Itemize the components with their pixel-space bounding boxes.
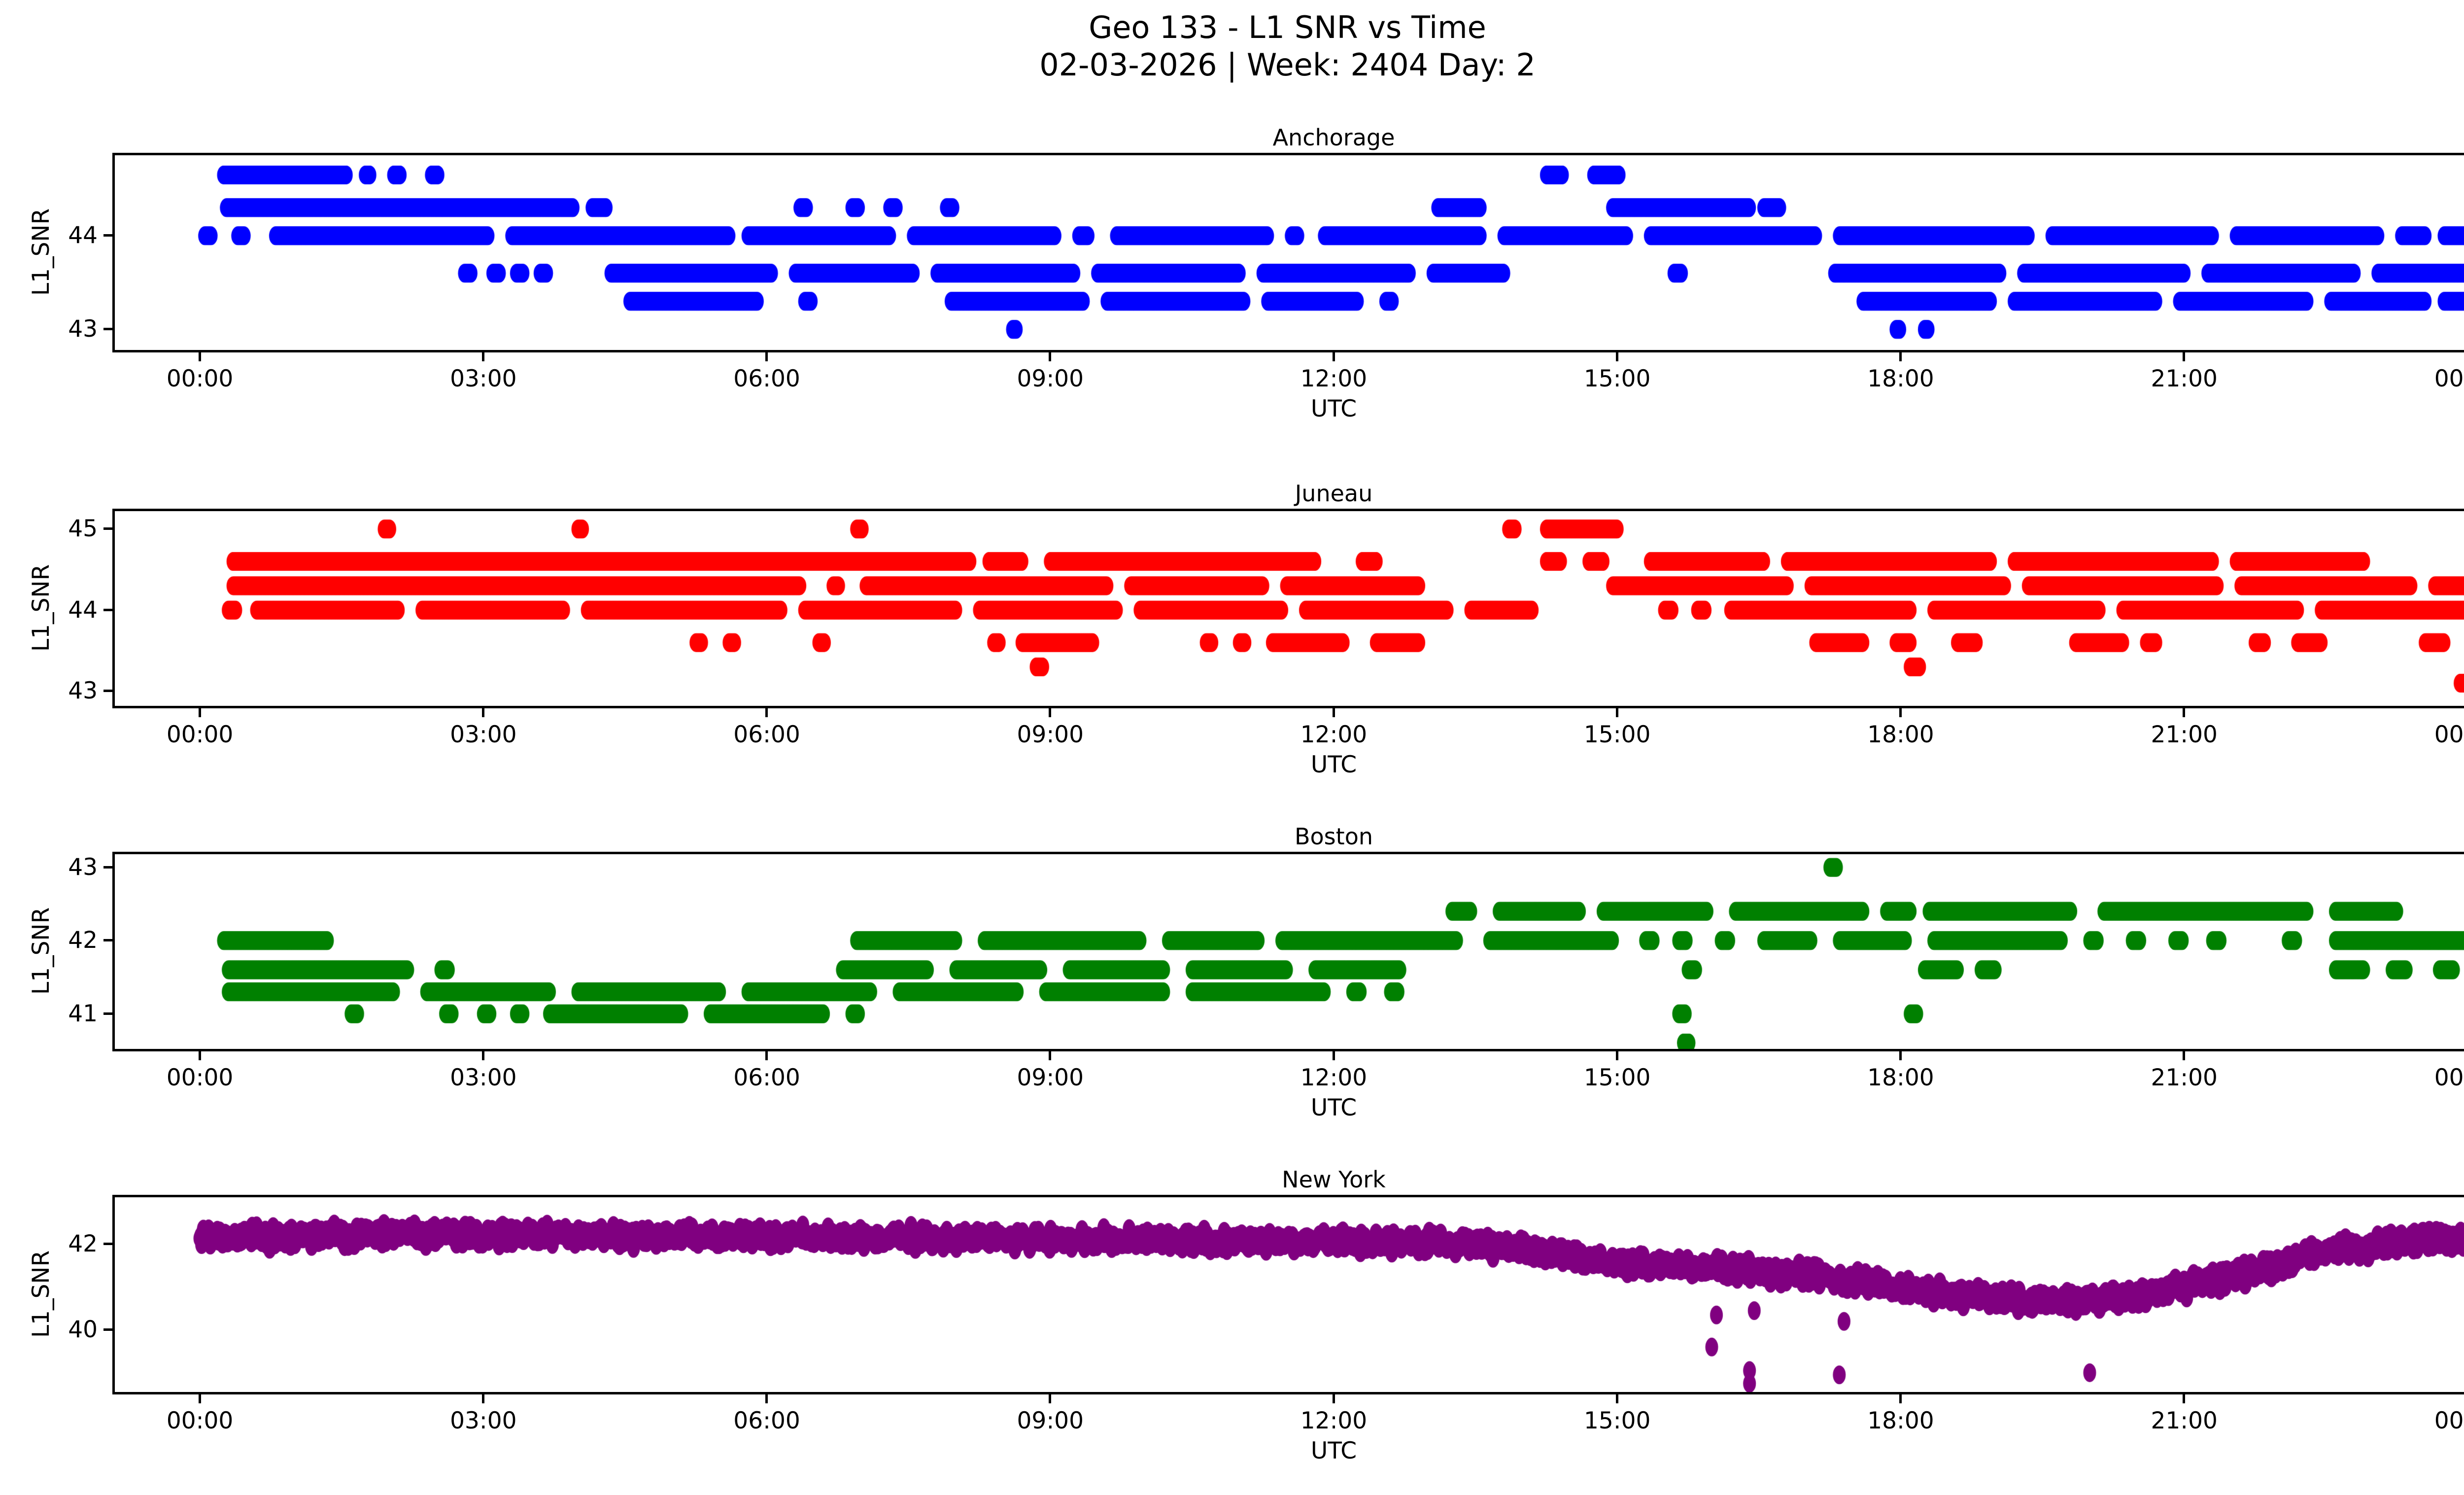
y-axis-label-boston: L1_SNR [28, 907, 55, 995]
subplot-title-juneau: Juneau [112, 480, 2464, 507]
x-tick-mark [1899, 1394, 1902, 1403]
x-tick-label: 03:00 [410, 1064, 557, 1091]
x-tick-label: 18:00 [1827, 1407, 1975, 1434]
x-tick-mark [1049, 1394, 1051, 1403]
x-tick-label: 18:00 [1827, 1064, 1975, 1091]
scatter-plot-boston [115, 854, 2464, 1049]
suptitle-line-2: 02-03-2026 | Week: 2404 Day: 2 [0, 46, 2464, 84]
x-tick-mark [482, 1051, 484, 1060]
x-tick-mark [1333, 1394, 1335, 1403]
x-tick-mark [1899, 1051, 1902, 1060]
y-tick-label: 43 [68, 676, 98, 706]
y-tick-mark [103, 690, 112, 692]
x-tick-label: 00:00 [126, 721, 274, 748]
y-tick-label: 42 [68, 925, 98, 956]
x-tick-label: 06:00 [693, 1064, 841, 1091]
subplot-title-anchorage: Anchorage [112, 124, 2464, 151]
y-tick-mark [103, 234, 112, 237]
x-tick-label: 21:00 [2110, 721, 2258, 748]
x-tick-label: 12:00 [1260, 365, 1408, 392]
x-tick-mark [199, 352, 201, 361]
x-tick-mark [1899, 708, 1902, 717]
x-axis-label-juneau: UTC [112, 751, 2464, 778]
x-tick-label: 00:00 [126, 1064, 274, 1091]
x-tick-mark [1616, 1051, 1618, 1060]
suptitle-line-1: Geo 133 - L1 SNR vs Time [1089, 9, 1486, 45]
y-tick-mark [103, 939, 112, 941]
x-tick-mark [2183, 352, 2185, 361]
x-axis-label-boston: UTC [112, 1094, 2464, 1121]
x-tick-label: 00:00 [2394, 721, 2464, 748]
subplot-title-boston: Boston [112, 823, 2464, 850]
x-tick-mark [1616, 352, 1618, 361]
x-tick-mark [1333, 708, 1335, 717]
x-tick-mark [2183, 1394, 2185, 1403]
y-tick-label: 41 [68, 999, 98, 1029]
y-tick-label: 45 [68, 514, 98, 544]
y-tick-label: 43 [68, 314, 98, 345]
y-tick-mark [103, 527, 112, 530]
x-tick-mark [1049, 1051, 1051, 1060]
y-tick-mark [103, 866, 112, 869]
subplot-title-new-york: New York [112, 1166, 2464, 1193]
y-tick-mark [103, 1243, 112, 1245]
x-tick-label: 03:00 [410, 721, 557, 748]
x-tick-label: 12:00 [1260, 721, 1408, 748]
y-tick-label: 44 [68, 220, 98, 251]
x-tick-mark [199, 1394, 201, 1403]
x-tick-label: 15:00 [1543, 1407, 1691, 1434]
x-tick-label: 09:00 [976, 721, 1124, 748]
x-tick-label: 00:00 [2394, 1064, 2464, 1091]
y-tick-label: 44 [68, 595, 98, 626]
x-tick-label: 03:00 [410, 1407, 557, 1434]
x-tick-label: 00:00 [126, 365, 274, 392]
x-tick-mark [765, 1051, 768, 1060]
x-tick-mark [482, 708, 484, 717]
x-tick-mark [1616, 1394, 1618, 1403]
y-tick-mark [103, 1328, 112, 1331]
x-tick-label: 09:00 [976, 1064, 1124, 1091]
x-axis-label-anchorage: UTC [112, 395, 2464, 422]
y-tick-mark [103, 609, 112, 611]
x-tick-mark [1333, 352, 1335, 361]
x-tick-mark [1049, 352, 1051, 361]
figure-canvas: Geo 133 - L1 SNR vs Time 02-03-2026 | We… [0, 0, 2464, 1495]
x-tick-label: 00:00 [2394, 365, 2464, 392]
x-tick-mark [199, 1051, 201, 1060]
x-tick-mark [765, 1394, 768, 1403]
x-tick-label: 21:00 [2110, 1407, 2258, 1434]
y-axis-label-new-york: L1_SNR [28, 1251, 55, 1338]
x-tick-label: 06:00 [693, 721, 841, 748]
x-tick-label: 18:00 [1827, 721, 1975, 748]
x-tick-label: 06:00 [693, 365, 841, 392]
x-tick-mark [765, 352, 768, 361]
x-tick-label: 00:00 [126, 1407, 274, 1434]
figure-suptitle: Geo 133 - L1 SNR vs Time 02-03-2026 | We… [0, 9, 2464, 83]
scatter-plot-anchorage [115, 155, 2464, 350]
y-axis-label-juneau: L1_SNR [28, 564, 55, 652]
x-tick-label: 00:00 [2394, 1407, 2464, 1434]
x-tick-label: 15:00 [1543, 1064, 1691, 1091]
x-tick-mark [482, 1394, 484, 1403]
x-tick-label: 18:00 [1827, 365, 1975, 392]
x-tick-mark [1899, 352, 1902, 361]
x-tick-mark [1049, 708, 1051, 717]
subplot-new-york: New York L1_SNR 4042 00:0003:0006:0009:0… [112, 1195, 2464, 1481]
x-tick-mark [2183, 1051, 2185, 1060]
x-tick-mark [199, 708, 201, 717]
x-tick-label: 15:00 [1543, 365, 1691, 392]
subplot-boston: Boston L1_SNR 414243 00:0003:0006:0009:0… [112, 852, 2464, 1138]
x-axis-label-new-york: UTC [112, 1437, 2464, 1464]
y-tick-label: 43 [68, 852, 98, 883]
scatter-plot-new-york [115, 1197, 2464, 1392]
x-tick-label: 15:00 [1543, 721, 1691, 748]
x-tick-mark [1333, 1051, 1335, 1060]
x-tick-label: 03:00 [410, 365, 557, 392]
x-tick-mark [765, 708, 768, 717]
x-tick-label: 21:00 [2110, 365, 2258, 392]
y-axis-label-anchorage: L1_SNR [28, 209, 55, 296]
x-tick-label: 12:00 [1260, 1407, 1408, 1434]
y-tick-mark [103, 328, 112, 330]
x-tick-mark [1616, 708, 1618, 717]
y-tick-label: 40 [68, 1315, 98, 1345]
scatter-plot-juneau [115, 511, 2464, 706]
x-tick-mark [482, 352, 484, 361]
subplot-juneau: Juneau L1_SNR 434445 00:0003:0006:0009:0… [112, 509, 2464, 795]
x-tick-mark [2183, 708, 2185, 717]
x-tick-label: 06:00 [693, 1407, 841, 1434]
x-tick-label: 09:00 [976, 365, 1124, 392]
x-tick-label: 09:00 [976, 1407, 1124, 1434]
y-tick-mark [103, 1012, 112, 1015]
y-tick-label: 42 [68, 1229, 98, 1259]
x-tick-label: 21:00 [2110, 1064, 2258, 1091]
subplot-anchorage: Anchorage L1_SNR 4344 00:0003:0006:0009:… [112, 153, 2464, 439]
x-tick-label: 12:00 [1260, 1064, 1408, 1091]
